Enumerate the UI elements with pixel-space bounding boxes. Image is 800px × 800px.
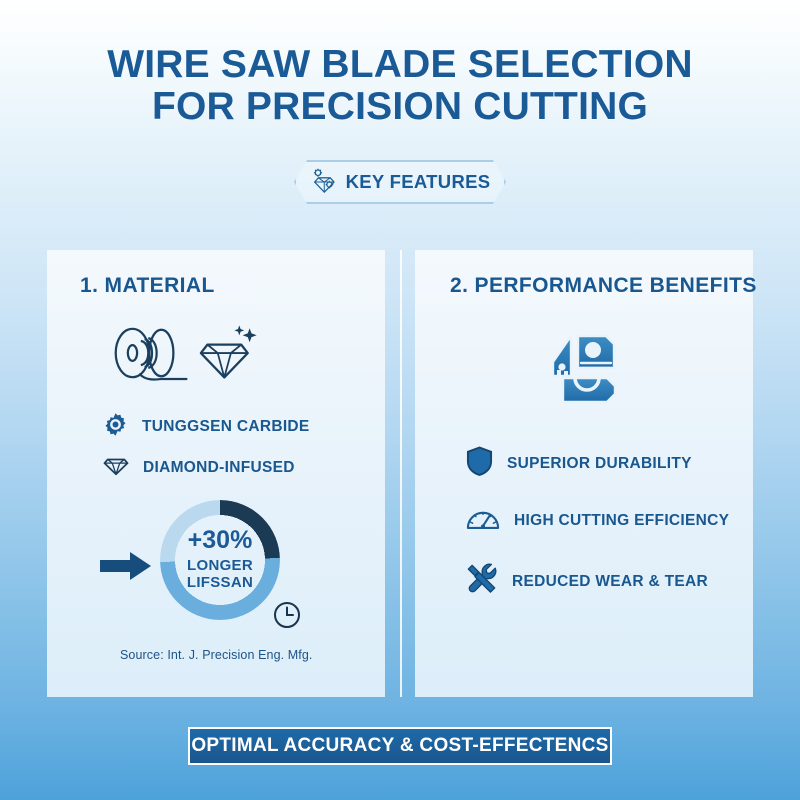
donut-percent: +30%	[188, 528, 253, 553]
source-note: Source: Int. J. Precision Eng. Mfg.	[120, 648, 312, 662]
footer-banner-label: OPTIMAL ACCURACY & COST-EFFECTENCS	[191, 735, 608, 757]
shield-icon	[466, 446, 493, 481]
lifespan-donut-chart: +30% LONGER LIFSSAN	[160, 500, 280, 620]
clock-icon	[272, 600, 302, 635]
feature-row-tungsten-carbide: TUNGGSEN CARBIDE	[103, 412, 310, 442]
feature-row-reduced-wear-tear: REDUCED WEAR & TEAR	[466, 563, 708, 600]
feature-label-reduced-wear-tear: REDUCED WEAR & TEAR	[512, 573, 708, 591]
footer-banner: OPTIMAL ACCURACY & COST-EFFECTENCS	[188, 727, 612, 765]
feature-label-high-cutting-efficiency: HIGH CUTTING EFFICIENCY	[514, 512, 729, 530]
gear-icon	[103, 412, 128, 442]
page-title: WIRE SAW BLADE SELECTION FOR PRECISION C…	[0, 44, 800, 128]
feature-label-diamond-infused: DIAMOND-INFUSED	[143, 459, 295, 477]
feature-row-superior-durability: SUPERIOR DURABILITY	[466, 446, 692, 481]
feature-row-high-cutting-efficiency: HIGH CUTTING EFFICIENCY	[466, 505, 729, 536]
material-hero-icons	[112, 322, 260, 389]
key-features-banner: KEY FEATURES	[294, 160, 506, 204]
feature-label-tungsten-carbide: TUNGGSEN CARBIDE	[142, 418, 310, 436]
diamond-sparkle-icon	[198, 324, 260, 389]
donut-subline-1: LONGER	[187, 558, 253, 575]
arrow-right-icon	[100, 550, 152, 587]
wire-spool-icon	[112, 322, 192, 389]
diamond-gear-icon	[310, 166, 337, 198]
key-features-label: KEY FEATURES	[346, 171, 491, 193]
feature-label-superior-durability: SUPERIOR DURABILITY	[507, 455, 692, 473]
panel-performance-heading: 2. PERFORMANCE BENEFITS	[450, 274, 757, 298]
donut-center-label: +30% LONGER LIFSSAN	[160, 500, 280, 620]
donut-subline-2: LIFSSAN	[187, 575, 253, 592]
panel-material-heading: 1. MATERIAL	[80, 274, 215, 298]
cutting-machine-icon	[545, 330, 621, 411]
title-line-2: FOR PRECISION CUTTING	[0, 86, 800, 128]
title-line-1: WIRE SAW BLADE SELECTION	[0, 44, 800, 86]
feature-row-diamond-infused: DIAMOND-INFUSED	[103, 453, 295, 482]
diamond-icon	[103, 453, 129, 482]
gauge-icon	[466, 505, 500, 536]
wrench-screwdriver-icon	[466, 563, 498, 600]
panel-divider	[400, 250, 402, 697]
